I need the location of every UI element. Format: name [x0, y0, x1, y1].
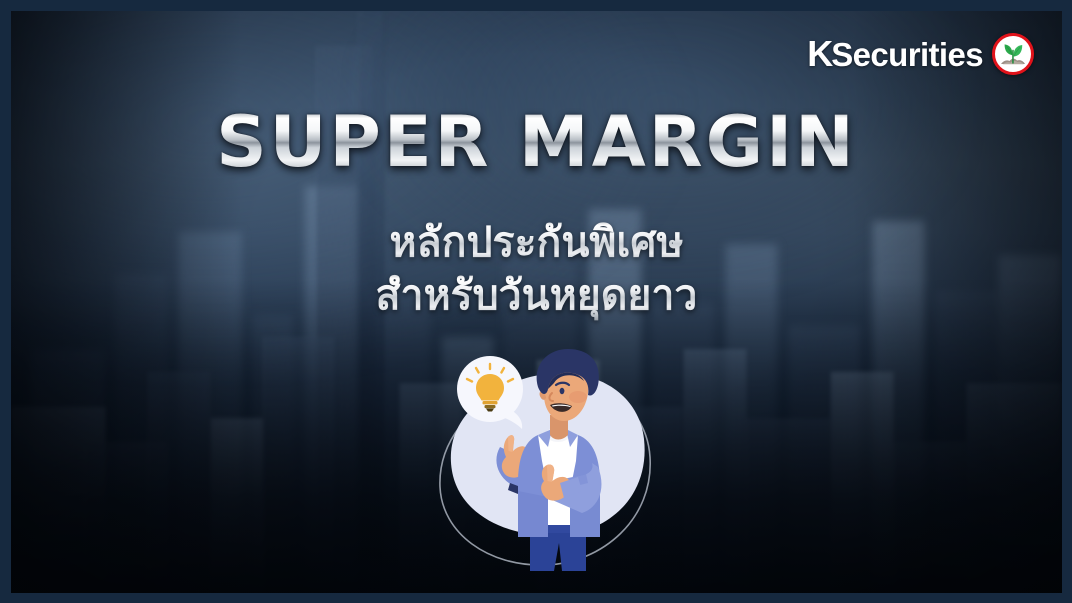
- logo-word-securities: Securities: [831, 36, 983, 73]
- logo-letter-k: K: [807, 33, 831, 74]
- subtitle-block: หลักประกันพิเศษ สำหรับวันหยุดยาว: [11, 216, 1062, 323]
- right-edge-shadow: [852, 11, 1062, 593]
- ksecurities-logo[interactable]: KSecurities: [807, 33, 1034, 75]
- banner-stage: KSecurities: [11, 11, 1062, 593]
- headline-super-margin: SUPER MARGIN: [216, 107, 856, 177]
- page-title: SUPER MARGIN: [11, 107, 1062, 177]
- subtitle-line-2: สำหรับวันหยุดยาว: [11, 269, 1062, 322]
- left-edge-shadow: [11, 11, 242, 593]
- logo-wordmark: KSecurities: [807, 36, 983, 72]
- kasikorn-sprout-icon: [992, 33, 1034, 75]
- super-margin-banner: KSecurities: [0, 0, 1072, 603]
- illustration-man-with-idea: [426, 341, 676, 593]
- atmospheric-haze-left: [11, 11, 684, 372]
- subtitle-line-1: หลักประกันพิเศษ: [11, 216, 1062, 269]
